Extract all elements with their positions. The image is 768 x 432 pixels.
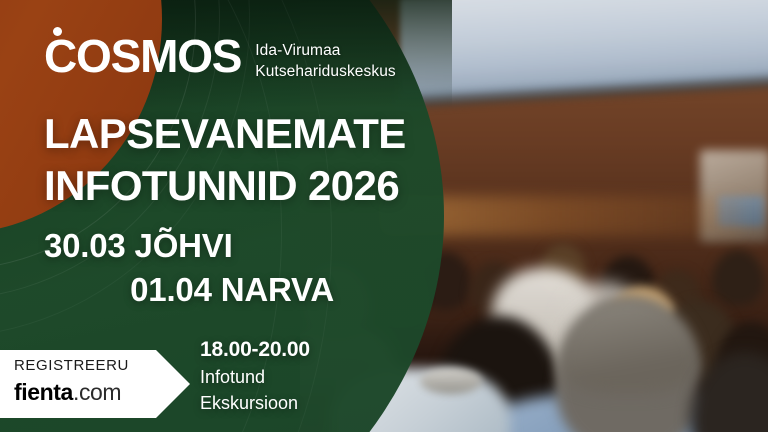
event-date-johvi: 30.03 JÕHVI <box>44 224 334 268</box>
event-date-narva: 01.04 NARVA <box>44 268 334 312</box>
organisation-line-2: Kutsehariduskeskus <box>255 61 396 82</box>
organisation-name: Ida-Virumaa Kutsehariduskeskus <box>255 34 396 82</box>
cosmos-logo: COSMOS <box>44 34 241 78</box>
organisation-line-1: Ida-Virumaa <box>255 40 396 61</box>
dot-accent-icon <box>53 27 62 36</box>
promo-banner: COSMOS Ida-Virumaa Kutsehariduskeskus LA… <box>0 0 768 432</box>
headline-line-2: INFOTUNNID 2026 <box>44 160 406 212</box>
schedule-time: 18.00-20.00 <box>200 336 310 364</box>
headline-line-1: LAPSEVANEMATE <box>44 108 406 160</box>
registration-banner-content[interactable]: REGISTREERU fienta.com <box>14 356 164 407</box>
registration-cta-label: REGISTREERU <box>14 356 164 376</box>
cosmos-logo-text: COSMOS <box>44 30 241 82</box>
registration-site: fienta.com <box>14 377 164 407</box>
schedule-item-infotund: Infotund <box>200 364 310 390</box>
event-dates: 30.03 JÕHVI 01.04 NARVA <box>44 224 334 312</box>
registration-site-name: fienta <box>14 379 73 405</box>
registration-site-tld: .com <box>73 379 121 405</box>
page-title: LAPSEVANEMATE INFOTUNNID 2026 <box>44 108 406 212</box>
schedule-item-ekskursioon: Ekskursioon <box>200 390 310 416</box>
event-schedule: 18.00-20.00 Infotund Ekskursioon <box>200 336 310 416</box>
brand-lockup: COSMOS Ida-Virumaa Kutsehariduskeskus <box>44 34 396 82</box>
banner-content: COSMOS Ida-Virumaa Kutsehariduskeskus LA… <box>0 0 768 432</box>
